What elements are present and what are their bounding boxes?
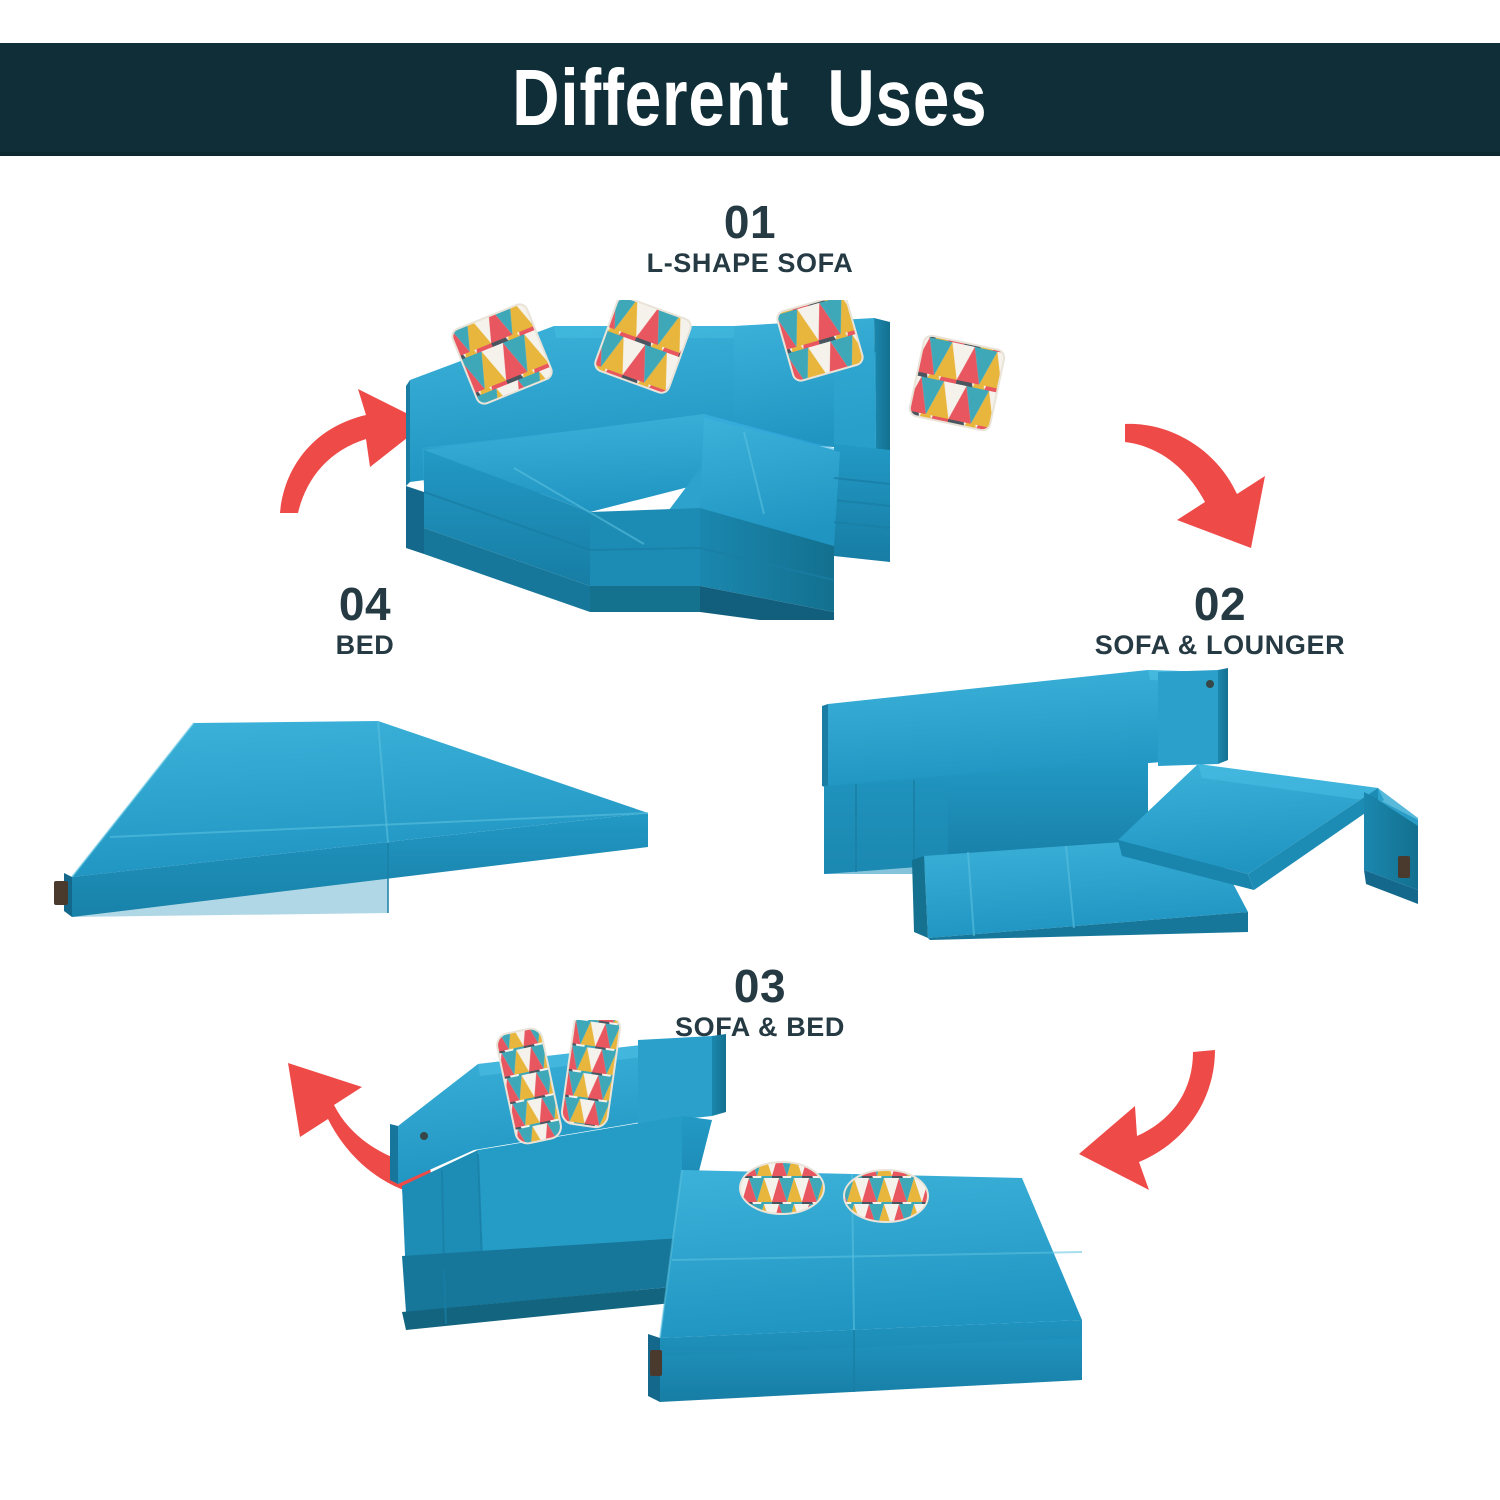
section-name-01: L-SHAPE SOFA: [500, 249, 1000, 279]
section-number-01: 01: [500, 198, 1000, 246]
section-name-02: SOFA & LOUNGER: [1000, 631, 1440, 661]
product-image-l-shape-sofa: [404, 300, 1084, 620]
product-image-sofa-bed: [382, 1020, 1102, 1420]
section-number-03: 03: [520, 962, 1000, 1010]
section-name-04: BED: [175, 631, 555, 661]
arrow-to-02-icon: [1125, 398, 1305, 548]
cushion: [908, 334, 1005, 431]
page-title: Different Uses: [512, 58, 987, 138]
cushion: [740, 1162, 824, 1214]
section-label-01: 01 L-SHAPE SOFA: [500, 198, 1000, 279]
header-banner: Different Uses: [0, 43, 1500, 156]
cushion: [844, 1170, 928, 1222]
product-image-flat-bed: [48, 695, 658, 940]
product-image-sofa-lounger: [818, 660, 1448, 940]
